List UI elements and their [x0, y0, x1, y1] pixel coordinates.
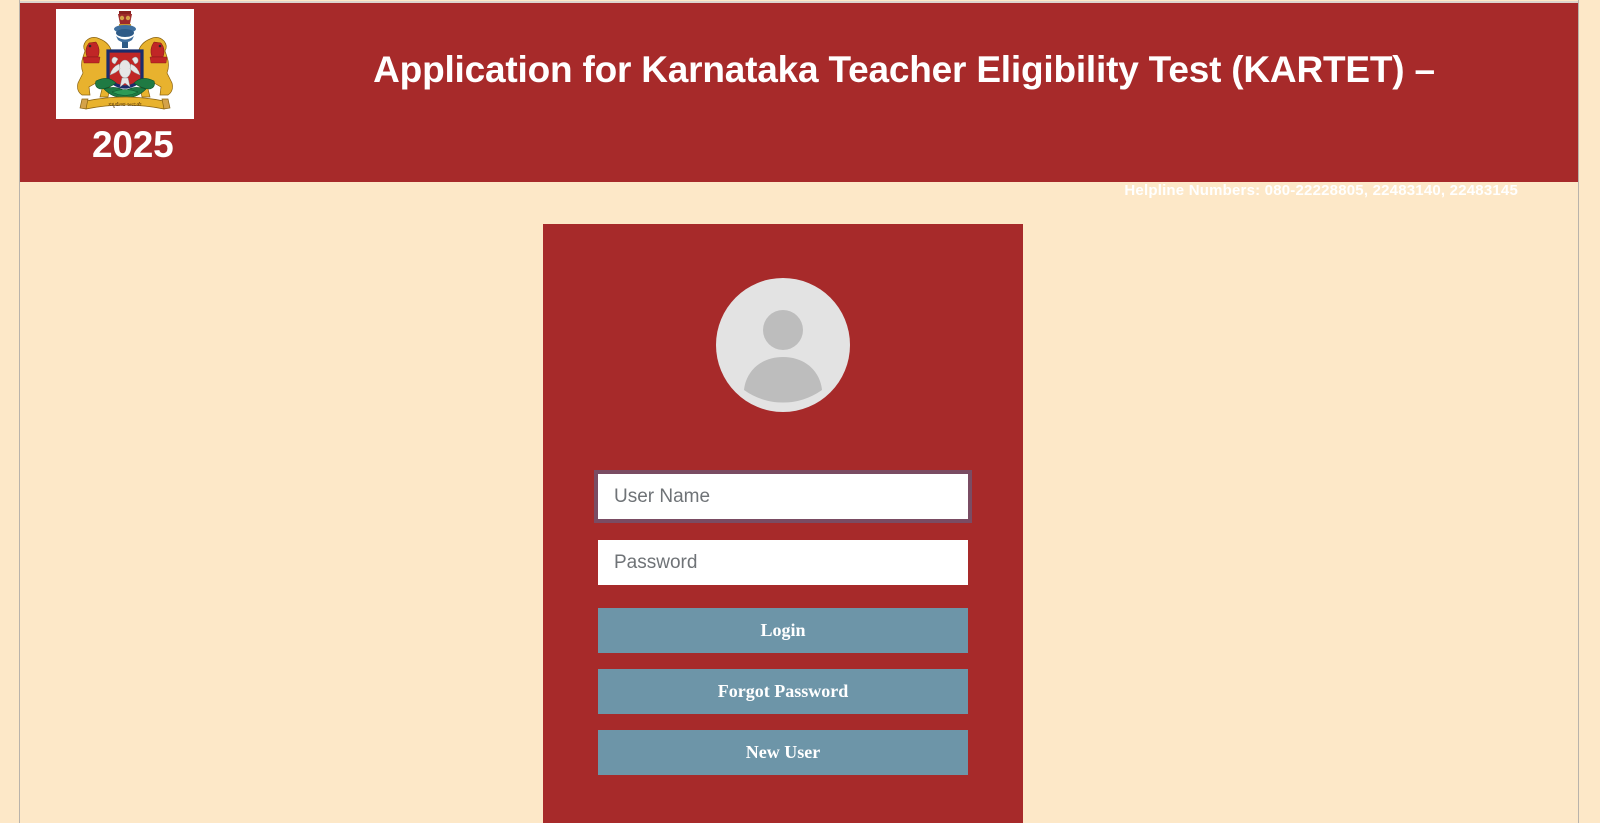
user-avatar-icon: [716, 278, 850, 412]
login-button[interactable]: Login: [598, 608, 968, 653]
new-user-button[interactable]: New User: [598, 730, 968, 775]
page-title-line2: 2025: [56, 115, 1556, 175]
forgot-password-button[interactable]: Forgot Password: [598, 669, 968, 714]
page-header: ಸತ್ಯಮೇವ ಜಯತೇ Application for Karnataka T…: [20, 1, 1578, 182]
username-field-wrapper: [598, 474, 968, 519]
right-margin-rule: [1578, 0, 1579, 823]
password-field-wrapper: [598, 540, 968, 585]
login-card: Login Forgot Password New User: [543, 224, 1023, 823]
password-input[interactable]: [598, 540, 968, 585]
helpline-numbers: Helpline Numbers: 080-22228805, 22483140…: [1124, 182, 1518, 199]
page-title: Application for Karnataka Teacher Eligib…: [56, 25, 1556, 175]
page-title-line1: Application for Karnataka Teacher Eligib…: [373, 49, 1435, 90]
page-root: ಸತ್ಯಮೇವ ಜಯತೇ Application for Karnataka T…: [0, 0, 1600, 823]
left-margin-rule: [19, 0, 20, 823]
username-input[interactable]: [598, 474, 968, 519]
